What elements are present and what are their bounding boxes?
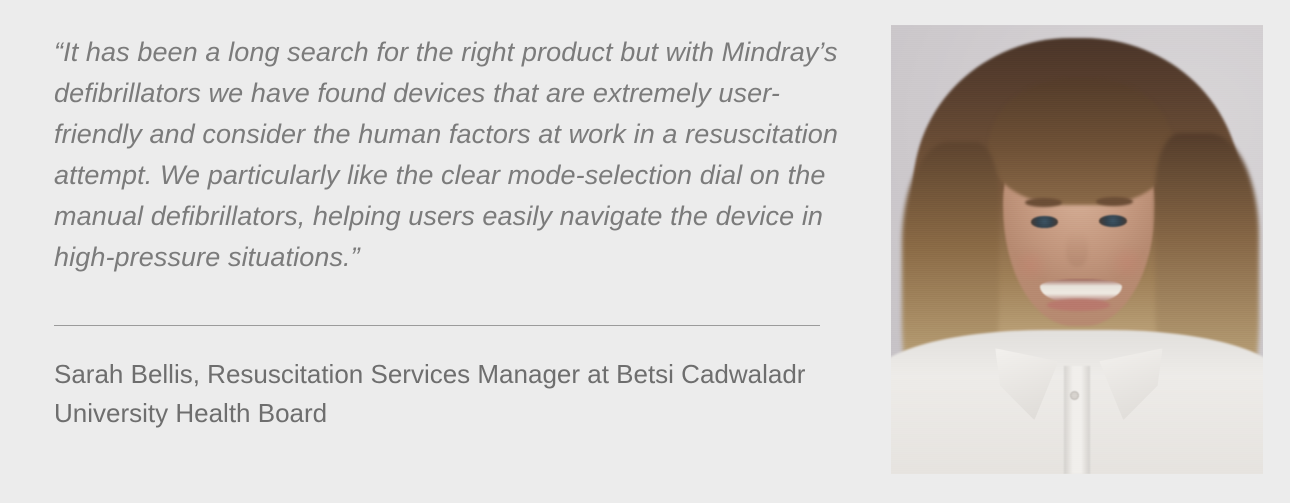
eye-right <box>1099 215 1127 227</box>
cheek-left <box>1010 250 1051 281</box>
testimonial-card: “It has been a long search for the right… <box>0 0 1290 503</box>
portrait-photo <box>891 25 1263 474</box>
quote-block: “It has been a long search for the right… <box>54 32 844 278</box>
eye-left <box>1031 216 1059 228</box>
hair-fringe <box>988 79 1174 205</box>
quote-text: “It has been a long search for the right… <box>54 32 844 278</box>
nose <box>1066 232 1088 268</box>
shirt-placket <box>1064 366 1090 474</box>
portrait-image <box>891 25 1263 474</box>
lower-lip <box>1047 299 1110 311</box>
cheek-right <box>1107 247 1148 278</box>
divider <box>54 325 820 326</box>
attribution-text: Sarah Bellis, Resuscitation Services Man… <box>54 355 814 433</box>
eyebrow-right <box>1096 197 1133 206</box>
